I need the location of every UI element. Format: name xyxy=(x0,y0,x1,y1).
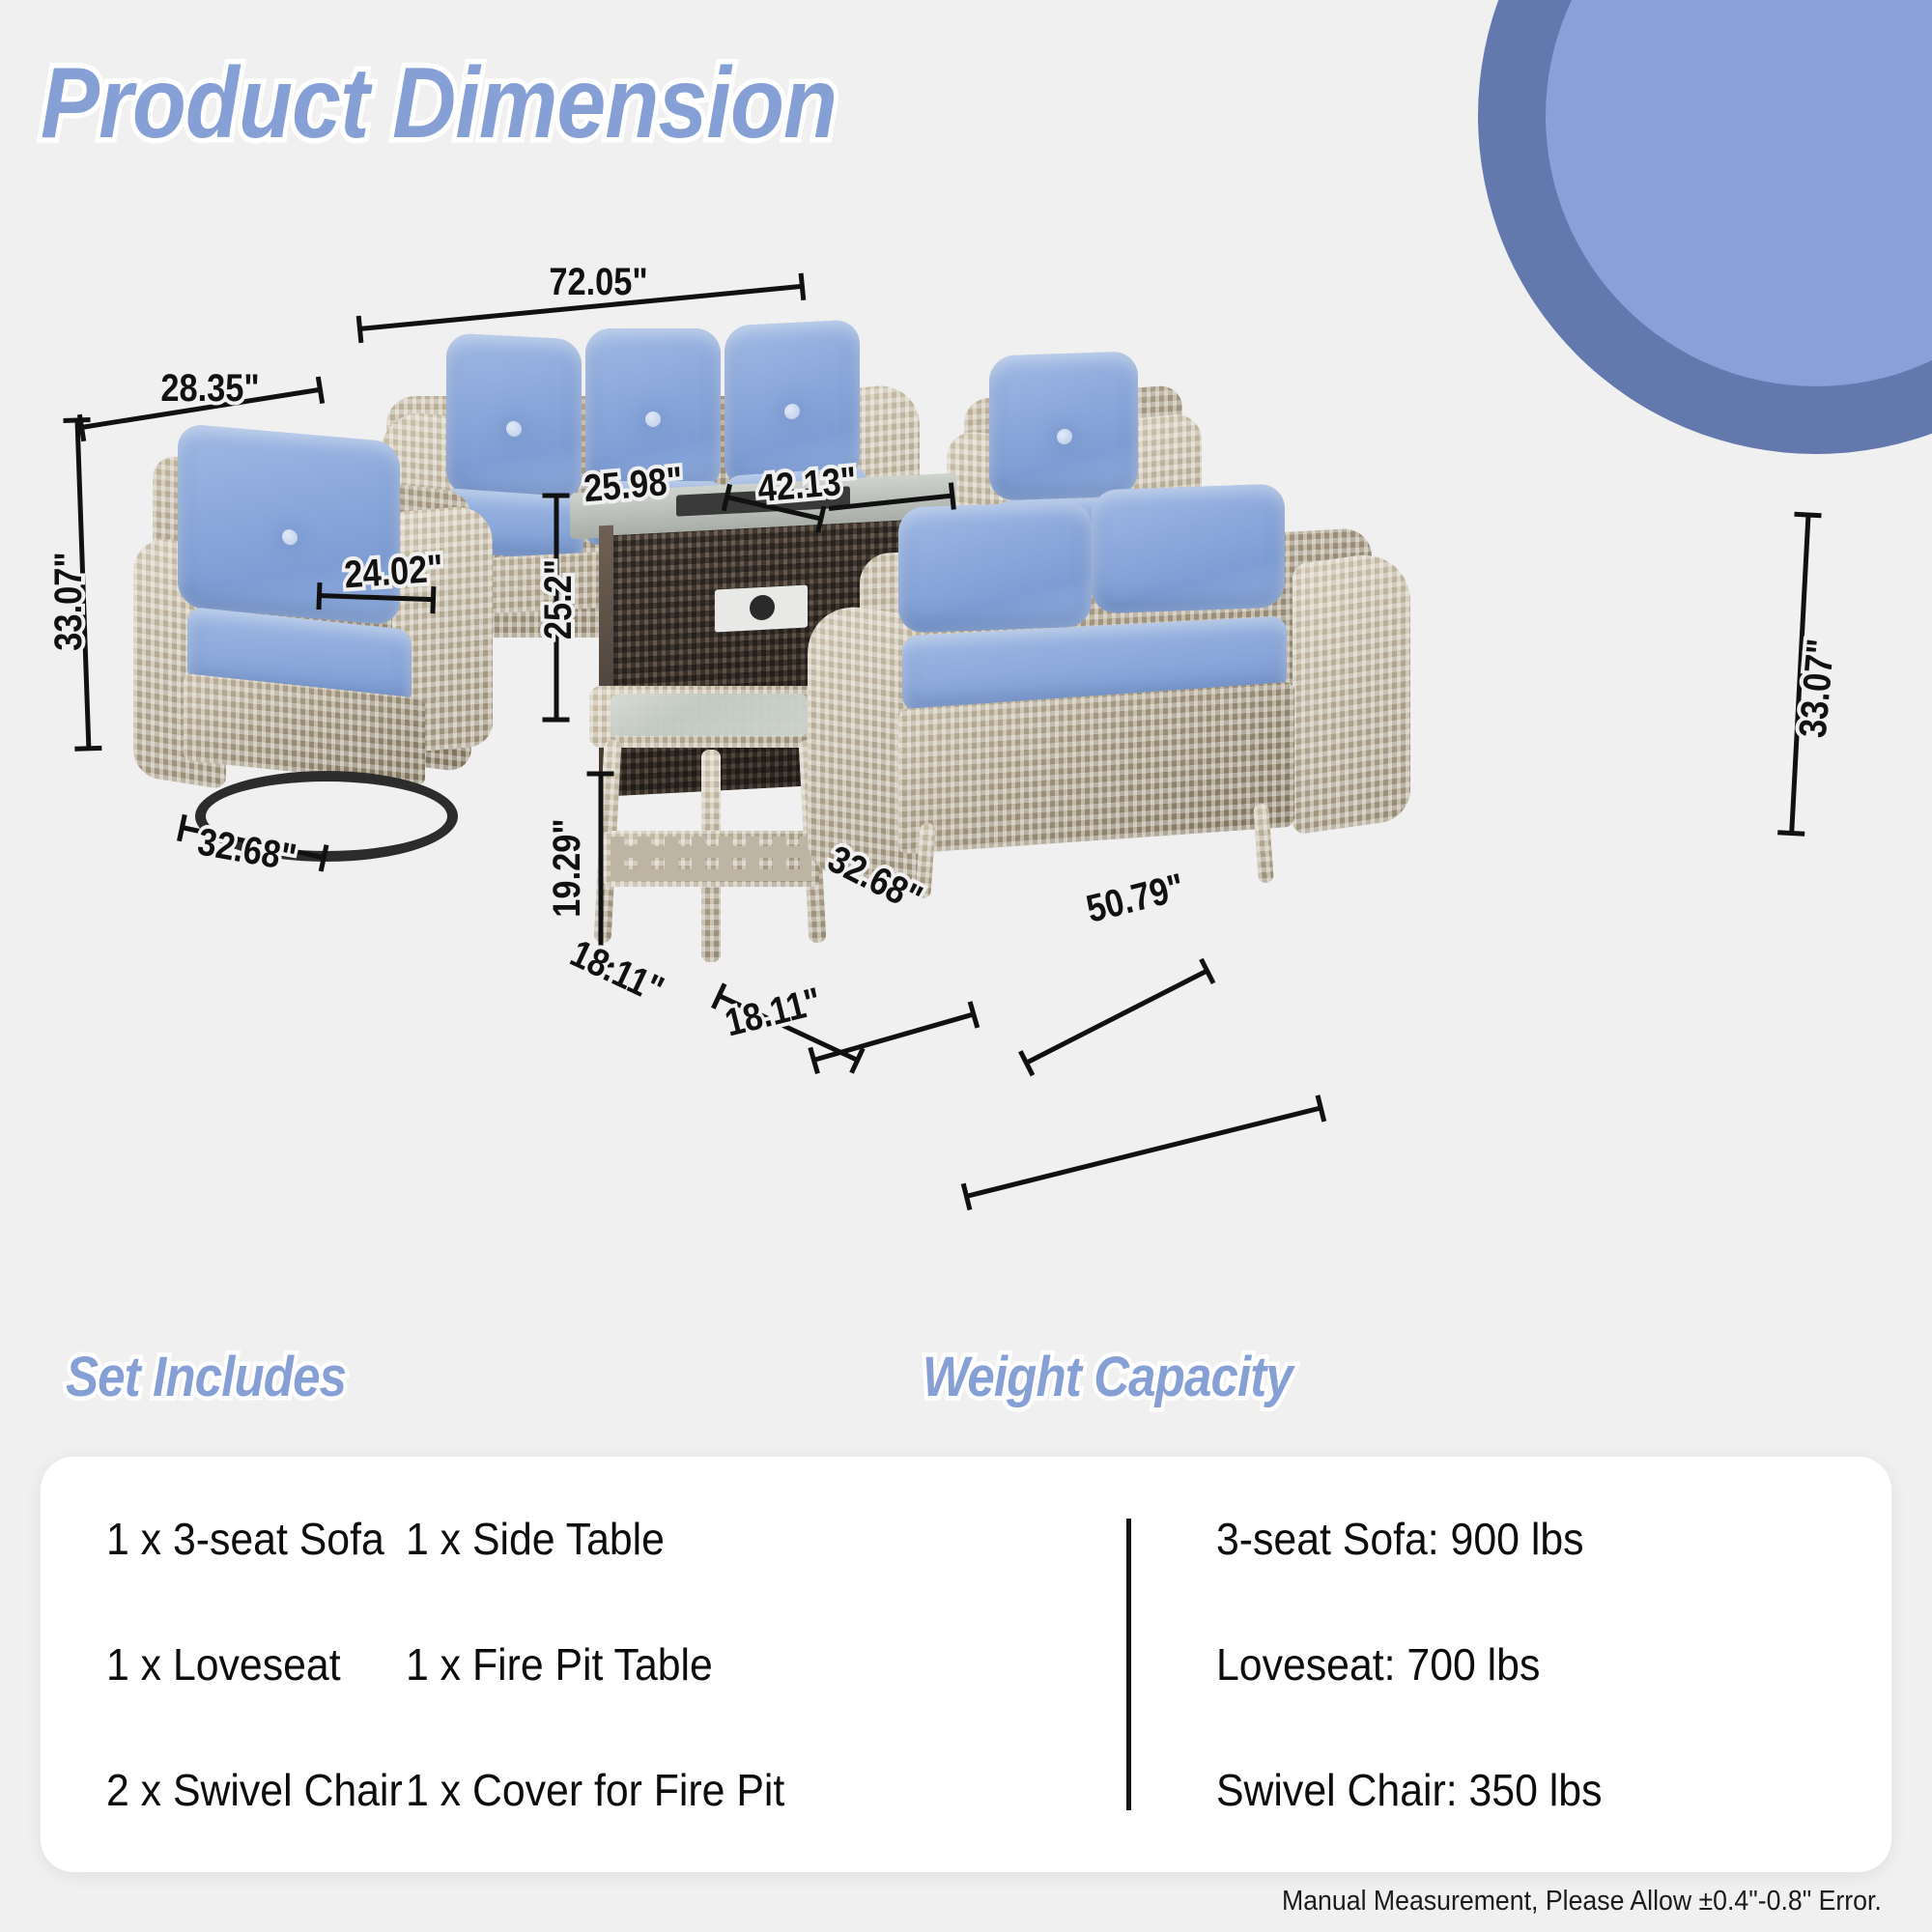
footer-disclaimer: Manual Measurement, Please Allow ±0.4"-0… xyxy=(1282,1886,1882,1918)
dim-line-sidetable-height xyxy=(599,774,604,965)
dim-label-sidetable-height: 19.29" xyxy=(546,818,589,917)
dim-label-loveseat-height: 33.07" xyxy=(1792,638,1844,740)
dim-label-firepit-height: 25.2" xyxy=(537,559,581,639)
dim-label-chair-height: 33.07" xyxy=(47,552,91,650)
dim-label-firepit-depth: 25.98" xyxy=(582,460,685,512)
dim-label-chair-seat-width: 24.02" xyxy=(343,547,444,597)
list-item: Loveseat: 700 lbs xyxy=(1216,1638,1844,1690)
infographic-page: Product Dimension xyxy=(0,0,1932,1932)
info-card: 1 x 3-seat Sofa 1 x Loveseat 2 x Swivel … xyxy=(41,1457,1891,1872)
set-includes-column: 1 x 3-seat Sofa 1 x Loveseat 2 x Swivel … xyxy=(41,1457,1113,1872)
page-title: Product Dimension xyxy=(41,46,837,161)
set-includes-sub-column-left: 1 x 3-seat Sofa 1 x Loveseat 2 x Swivel … xyxy=(106,1513,396,1816)
list-item: 2 x Swivel Chair xyxy=(106,1764,376,1816)
list-item: 1 x 3-seat Sofa xyxy=(106,1513,376,1565)
product-illustration xyxy=(0,241,1932,1323)
dim-label-sofa-width: 72.05" xyxy=(549,261,647,304)
weight-capacity-heading: Weight Capacity xyxy=(923,1345,1293,1409)
list-item: 1 x Side Table xyxy=(406,1513,819,1565)
furniture-swivel-chair-left xyxy=(126,415,502,850)
list-item: 1 x Cover for Fire Pit xyxy=(406,1764,819,1816)
list-item: Swivel Chair: 350 lbs xyxy=(1216,1764,1844,1816)
dim-label-firepit-width: 42.13" xyxy=(756,460,859,512)
list-item: 1 x Loveseat xyxy=(106,1638,376,1690)
set-includes-heading: Set Includes xyxy=(66,1345,346,1409)
furniture-side-table xyxy=(589,686,831,966)
list-item: 3-seat Sofa: 900 lbs xyxy=(1216,1513,1844,1565)
weight-capacity-column: 3-seat Sofa: 900 lbs Loveseat: 700 lbs S… xyxy=(1131,1457,1891,1872)
set-includes-sub-column-right: 1 x Side Table 1 x Fire Pit Table 1 x Co… xyxy=(406,1513,850,1816)
list-item: 1 x Fire Pit Table xyxy=(406,1638,819,1690)
dim-label-chair-depth: 28.35" xyxy=(160,367,259,411)
furniture-loveseat xyxy=(802,464,1410,918)
